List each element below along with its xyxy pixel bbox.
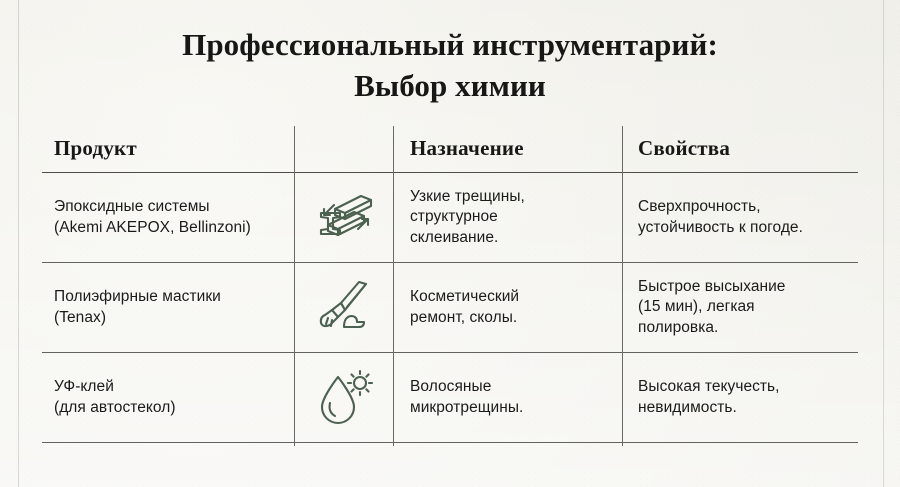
- uv-droplet-icon: [314, 369, 374, 427]
- page-title: Профессиональный инструментарий: Выбор х…: [0, 24, 900, 106]
- purpose-text: Волосяные микротрещины.: [410, 377, 523, 418]
- cell-purpose: Волосяные микротрещины.: [393, 353, 622, 442]
- table-row: Полиэфирные мастики (Tenax): [42, 263, 858, 352]
- infographic-page: Профессиональный инструментарий: Выбор х…: [0, 0, 900, 487]
- properties-text: Сверхпрочность, устойчивость к погоде.: [638, 197, 803, 238]
- cell-properties: Сверхпрочность, устойчивость к погоде.: [622, 173, 858, 262]
- steel-beam-icon: [314, 189, 374, 247]
- cell-product: Полиэфирные мастики (Tenax): [42, 263, 294, 352]
- cell-product: Эпоксидные системы (Akemi AKEPOX, Bellin…: [42, 173, 294, 262]
- cell-properties: Высокая текучесть, невидимость.: [622, 353, 858, 442]
- purpose-text: Узкие трещины, структурное склеивание.: [410, 187, 525, 248]
- cell-product: УФ-клей (для автостекол): [42, 353, 294, 442]
- product-name: УФ-клей (для автостекол): [54, 377, 176, 418]
- header-icon-column: [294, 124, 393, 172]
- cell-purpose: Узкие трещины, структурное склеивание.: [393, 173, 622, 262]
- table-bottom-separator: [42, 442, 858, 443]
- paintbrush-icon: [314, 279, 374, 337]
- table-header-row: Продукт Назначение Свойства: [42, 124, 858, 172]
- header-product: Продукт: [42, 124, 294, 172]
- cell-icon: [294, 173, 393, 262]
- cell-icon: [294, 263, 393, 352]
- header-properties: Свойства: [622, 124, 858, 172]
- table-row: Эпоксидные системы (Akemi AKEPOX, Bellin…: [42, 173, 858, 262]
- comparison-table: Продукт Назначение Свойства Эпоксидные с…: [42, 124, 858, 443]
- cell-purpose: Косметический ремонт, сколы.: [393, 263, 622, 352]
- product-name: Полиэфирные мастики (Tenax): [54, 287, 221, 328]
- header-purpose: Назначение: [393, 124, 622, 172]
- properties-text: Быстрое высыхание (15 мин), легкая полир…: [638, 277, 785, 338]
- purpose-text: Косметический ремонт, сколы.: [410, 287, 519, 328]
- product-name: Эпоксидные системы (Akemi AKEPOX, Bellin…: [54, 197, 251, 238]
- table-row: УФ-клей (для автостекол) Волосяны: [42, 353, 858, 442]
- properties-text: Высокая текучесть, невидимость.: [638, 377, 780, 418]
- cell-icon: [294, 353, 393, 442]
- cell-properties: Быстрое высыхание (15 мин), легкая полир…: [622, 263, 858, 352]
